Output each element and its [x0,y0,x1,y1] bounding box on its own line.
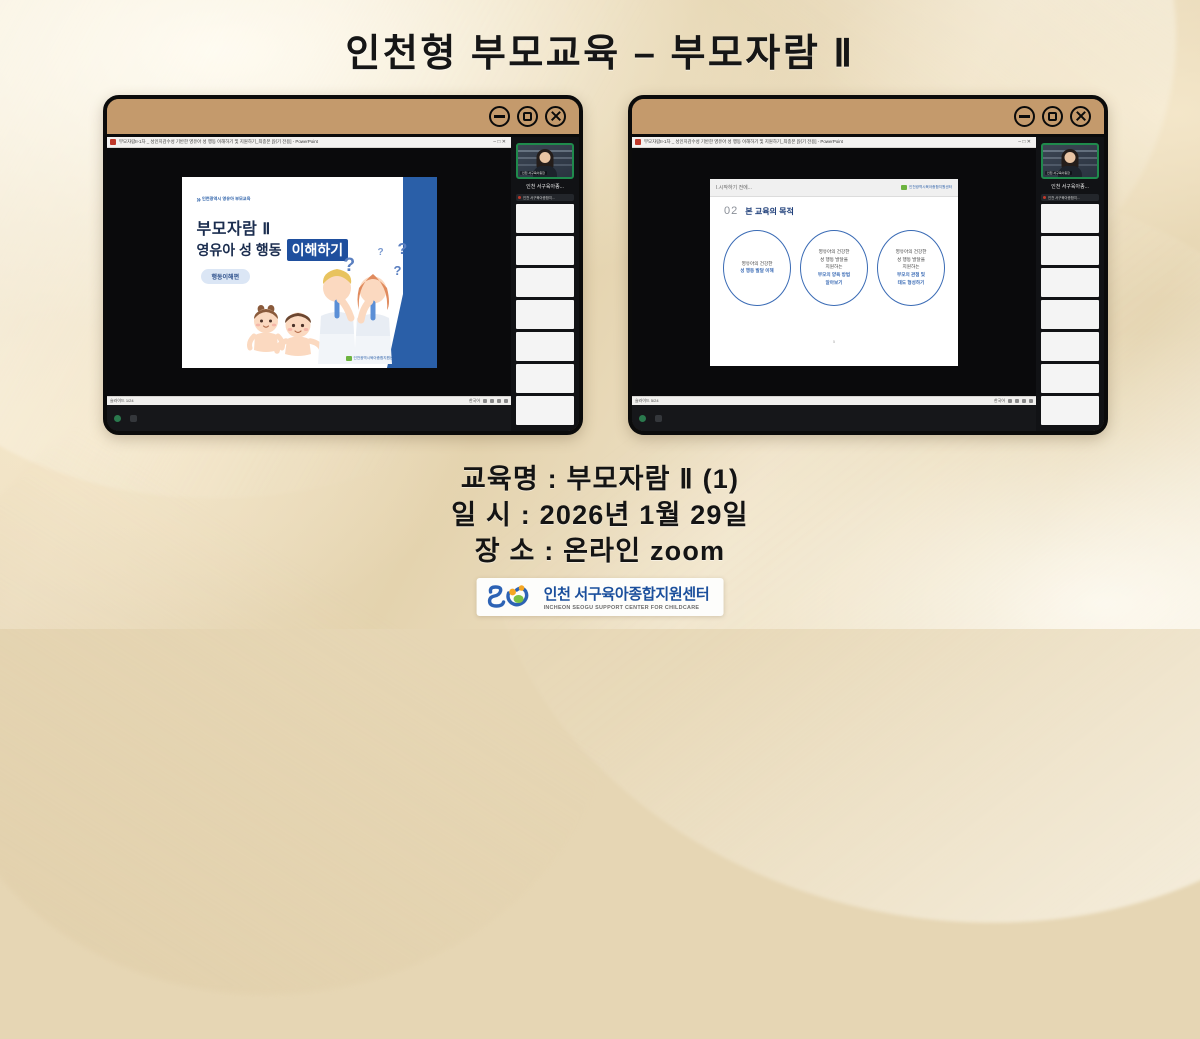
host-name-right: 인천 서구육아종... [1041,182,1099,191]
participant-tile[interactable] [1041,396,1099,425]
zoom-toolbar-right[interactable] [632,405,1036,431]
info-education-name: 교육명 : 부모자람 Ⅱ (1) [0,462,1200,498]
view-slideshow-icon[interactable] [504,399,508,403]
window-body-right: 부모자람II-1차 _ 성인지감수성 기반한 영유아 성 행동 이해하기 및 지… [632,137,1104,431]
microphone-icon[interactable] [639,415,646,422]
minimize-icon[interactable] [1014,106,1035,127]
view-normal-icon[interactable] [1008,399,1012,403]
slide-stage-right: I.시작하기 전에... 인천광역시육아종합지원센터 02 본 교육의 목적 영… [632,148,1036,396]
event-info-block: 교육명 : 부모자람 Ⅱ (1) 일 시 : 2026년 1월 29일 장 소 … [0,462,1200,570]
statusbar-controls-left[interactable]: 한국어 [469,398,508,404]
question-mark-icon-2: ? [378,247,384,258]
participant-tile[interactable] [516,204,574,233]
powerpoint-titlebar-right: 부모자람II-1차 _ 성인지감수성 기반한 영유아 성 행동 이해하기 및 지… [632,137,1036,148]
footer-logo-text: 인천 서구육아종합지원센터 INCHEON SEOGU SUPPORT CENT… [544,583,710,611]
info-datetime: 일 시 : 2026년 1월 29일 [0,498,1200,534]
slide-brandline-text: 인천광역시 영유아 부모교육 [202,196,251,202]
powerpoint-window-controls-left[interactable]: – □ ✕ [493,139,508,145]
participant-tile[interactable] [516,236,574,265]
host-face [540,152,551,163]
parents-illustration [313,254,399,364]
close-icon[interactable] [1070,106,1091,127]
screen-share-area-left: 부모자람II-1차 _ 성인지감수성 기반한 영유아 성 행동 이해하기 및 지… [107,137,511,431]
titlebar-right [632,99,1104,137]
view-sorter-icon[interactable] [490,399,494,403]
slide-heading-1: 부모자람 Ⅱ [197,215,271,239]
view-slideshow-icon[interactable] [1029,399,1033,403]
participants-panel-left[interactable]: 인천 서구육아종합 인천 서구육아종... 인천 서구육아종합지... [511,137,579,431]
video-camera-icon[interactable] [655,415,662,422]
powerpoint-icon [110,139,116,145]
slide-breadcrumb: I.시작하기 전에... [716,184,752,191]
participant-tile[interactable] [1041,204,1099,233]
language-label-right: 한국어 [994,398,1005,404]
slide-footer-text: 인천광역시육아종합지원센터 [354,356,397,361]
participant-tile[interactable] [516,332,574,361]
participant-tile[interactable] [516,396,574,425]
footer-logo-english: INCHEON SEOGU SUPPORT CENTER FOR CHILDCA… [544,605,710,611]
participant-tile[interactable] [1041,332,1099,361]
slide-content: I.시작하기 전에... 인천광역시육아종합지원센터 02 본 교육의 목적 영… [710,179,958,366]
recording-dot-icon [1043,196,1046,199]
slide-counter-right: 슬라이드 5/24 [635,398,659,404]
language-label-left: 한국어 [469,398,480,404]
host-tag-right: 인천 서구육아종합지... [1041,194,1099,201]
footer-logo: 인천 서구육아종합지원센터 INCHEON SEOGU SUPPORT CENT… [477,578,724,616]
footer-logo-korean: 인천 서구육아종합지원센터 [544,583,710,604]
window-right[interactable]: 부모자람II-1차 _ 성인지감수성 기반한 영유아 성 행동 이해하기 및 지… [628,95,1108,435]
minimize-icon[interactable] [489,106,510,127]
powerpoint-title-left: 부모자람II-1차 _ 성인지감수성 기반한 영유아 성 행동 이해하기 및 지… [119,139,490,145]
slide-heading-2: 영유아 성 행동 [197,240,282,260]
titlebar-left [107,99,579,137]
participants-panel-right[interactable]: 인천 서구육아종합 인천 서구육아종... 인천 서구육아종합지... [1036,137,1104,431]
question-mark-icon-4: ? [394,263,402,278]
slide-brandline: » 인천광역시 영유아 부모교육 [197,195,251,204]
participant-tile[interactable] [516,364,574,393]
host-video-label-right: 인천 서구육아종합 [1045,171,1072,175]
participant-tile[interactable] [1041,236,1099,265]
slide-logo: 인천광역시육아종합지원센터 [901,185,952,190]
close-icon[interactable] [545,106,566,127]
host-video-tile-right[interactable]: 인천 서구육아종합 [1041,143,1099,179]
host-tag-left: 인천 서구육아종합지... [516,194,574,201]
maximize-icon[interactable] [517,106,538,127]
window-left[interactable]: 부모자람II-1차 _ 성인지감수성 기반한 영유아 성 행동 이해하기 및 지… [103,95,583,435]
powerpoint-statusbar-right: 슬라이드 5/24 한국어 [632,396,1036,405]
question-mark-icon-3: ? [398,241,408,259]
purpose-circles: 영유아의 건강한 성 행동 발달 이해 영유아의 건강한 성 행동 발달을 지원… [710,230,958,306]
slide-footer-left: 인천광역시육아종합지원센터 [346,356,397,361]
purpose-circle-2: 영유아의 건강한 성 행동 발달을 지원하는 부모의 양육 방법 알아보기 [800,230,868,306]
slide-section-header: 02 본 교육의 목적 [710,197,958,217]
participant-tile[interactable] [516,300,574,329]
powerpoint-title-right: 부모자람II-1차 _ 성인지감수성 기반한 영유아 성 행동 이해하기 및 지… [644,139,1015,145]
host-video-tile-left[interactable]: 인천 서구육아종합 [516,143,574,179]
participant-tile[interactable] [1041,268,1099,297]
participant-tile[interactable] [1041,364,1099,393]
slide-stage-left: » 인천광역시 영유아 부모교육 부모자람 Ⅱ 영유아 성 행동 이해하기 행동… [107,148,511,396]
screen-share-area-right: 부모자람II-1차 _ 성인지감수성 기반한 영유아 성 행동 이해하기 및 지… [632,137,1036,431]
view-normal-icon[interactable] [483,399,487,403]
video-camera-icon[interactable] [130,415,137,422]
slide-blue-band [403,177,437,368]
seogu-logo-icon [487,584,535,610]
powerpoint-titlebar-left: 부모자람II-1차 _ 성인지감수성 기반한 영유아 성 행동 이해하기 및 지… [107,137,511,148]
slide-cover: » 인천광역시 영유아 부모교육 부모자람 Ⅱ 영유아 성 행동 이해하기 행동… [182,177,437,368]
host-face [1065,152,1076,163]
slide-counter-left: 슬라이드 1/24 [110,398,134,404]
center-logo-icon [901,185,907,190]
section-number: 02 [724,205,738,217]
chevron-right-icon: » [197,195,199,204]
view-reading-icon[interactable] [1022,399,1026,403]
slide-page-number: 5 [710,339,958,344]
powerpoint-icon [635,139,641,145]
powerpoint-window-controls-right[interactable]: – □ ✕ [1018,139,1033,145]
question-mark-icon-1: ? [344,255,356,277]
host-video-label-left: 인천 서구육아종합 [520,171,547,175]
page-title: 인천형 부모교육 – 부모자람 Ⅱ [0,22,1200,77]
info-location: 장 소 : 온라인 zoom [0,534,1200,570]
recording-dot-icon [518,196,521,199]
microphone-icon[interactable] [114,415,121,422]
participant-tile[interactable] [516,268,574,297]
host-tag-text-left: 인천 서구육아종합지... [523,195,555,200]
section-title: 본 교육의 목적 [745,206,794,217]
slide-badge: 행동이해편 [201,269,251,284]
zoom-toolbar-left[interactable] [107,405,511,431]
host-tag-text-right: 인천 서구육아종합지... [1048,195,1080,200]
center-logo-icon [346,356,352,361]
view-reading-icon[interactable] [497,399,501,403]
slide-logo-text: 인천광역시육아종합지원센터 [909,185,952,190]
purpose-circle-3: 영유아의 건강한 성 행동 발달을 지원하는 부모의 관점 및 태도 형성하기 [877,230,945,306]
window-body-left: 부모자람II-1차 _ 성인지감수성 기반한 영유아 성 행동 이해하기 및 지… [107,137,579,431]
host-name-left: 인천 서구육아종... [516,182,574,191]
purpose-circle-1: 영유아의 건강한 성 행동 발달 이해 [723,230,791,306]
statusbar-controls-right[interactable]: 한국어 [994,398,1033,404]
slide-header-bar: I.시작하기 전에... 인천광역시육아종합지원센터 [710,179,958,197]
maximize-icon[interactable] [1042,106,1063,127]
powerpoint-statusbar-left: 슬라이드 1/24 한국어 [107,396,511,405]
view-sorter-icon[interactable] [1015,399,1019,403]
participant-tile[interactable] [1041,300,1099,329]
